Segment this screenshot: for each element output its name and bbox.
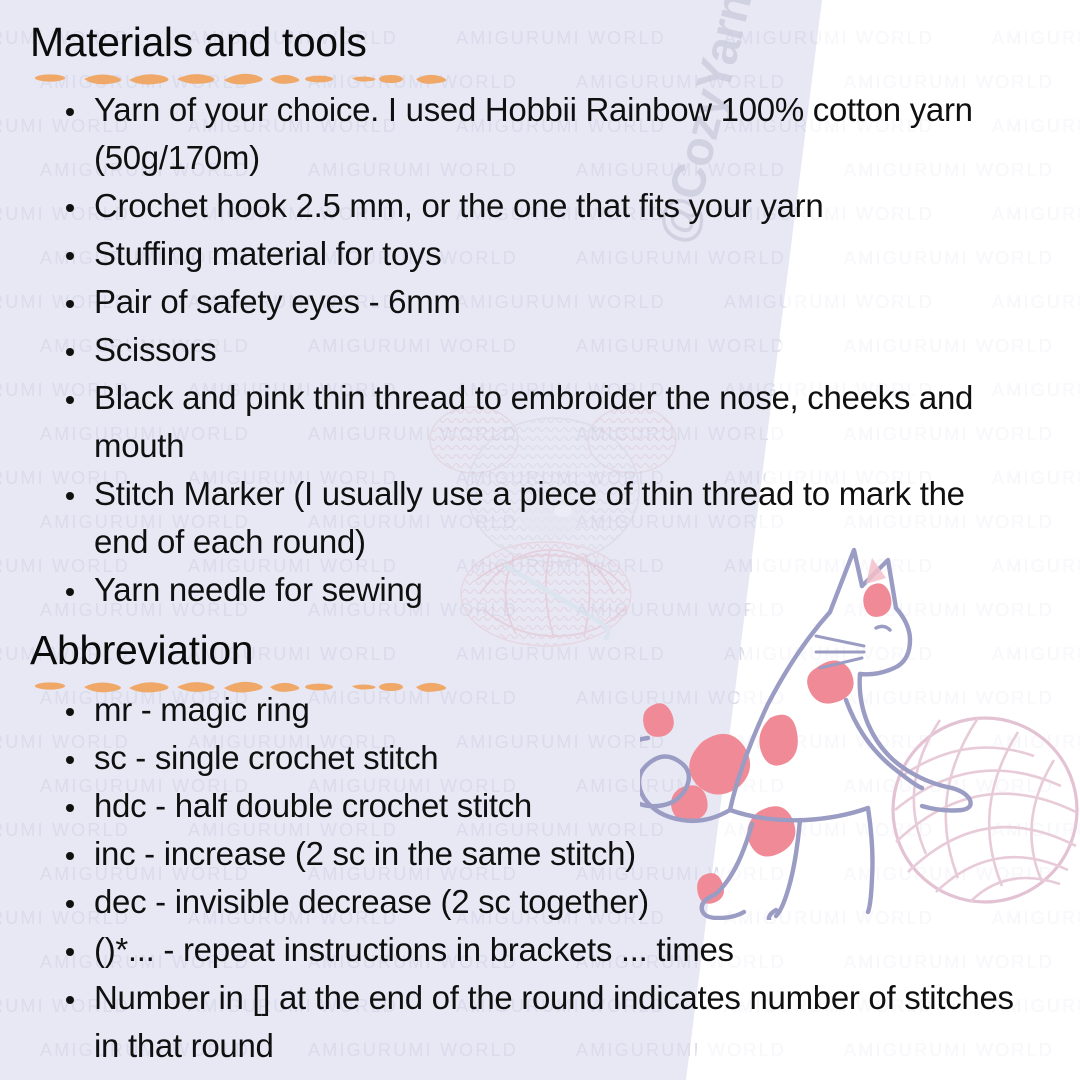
page-title-abbreviation: Abbreviation: [30, 630, 454, 671]
materials-list-item: Scissors: [56, 326, 1016, 374]
poster-content: Materials and tools Yarn of your choice.…: [0, 0, 1080, 1080]
abbreviation-list-item: mr - magic ring: [56, 686, 1036, 734]
abbreviation-list-item: dec - invisible decrease (2 sc together): [56, 878, 1036, 926]
materials-list-item: Yarn of your choice. I used Hobbii Rainb…: [56, 86, 1016, 182]
abbreviation-list-item: sc - single crochet stitch: [56, 734, 1036, 782]
materials-heading-block: Materials and tools: [30, 22, 454, 86]
materials-list-item: Stuffing material for toys: [56, 230, 1016, 278]
materials-list: Yarn of your choice. I used Hobbii Rainb…: [56, 86, 1016, 614]
poster-canvas: AMIGURUMI WORLDAMIGURUMI WORLDAMIGURUMI …: [0, 0, 1080, 1080]
page-title-materials: Materials and tools: [30, 22, 454, 63]
materials-list-item: Crochet hook 2.5 mm, or the one that fit…: [56, 182, 1016, 230]
abbreviation-list-item: Number in [] at the end of the round ind…: [56, 974, 1036, 1070]
abbreviation-list-item: ()*... - repeat instructions in brackets…: [56, 926, 1036, 974]
abbreviation-list: mr - magic ringsc - single crochet stitc…: [56, 686, 1036, 1070]
abbreviation-list-item: hdc - half double crochet stitch: [56, 782, 1036, 830]
materials-list-item: Pair of safety eyes - 6mm: [56, 278, 1016, 326]
dash-underline-decoration: [34, 70, 454, 86]
materials-list-item: Yarn needle for sewing: [56, 566, 1016, 614]
abbreviation-heading-block: Abbreviation: [30, 630, 454, 694]
materials-list-item: Stitch Marker (I usually use a piece of …: [56, 470, 1016, 566]
materials-list-item: Black and pink thin thread to embroider …: [56, 374, 1016, 470]
abbreviation-list-item: inc - increase (2 sc in the same stitch): [56, 830, 1036, 878]
